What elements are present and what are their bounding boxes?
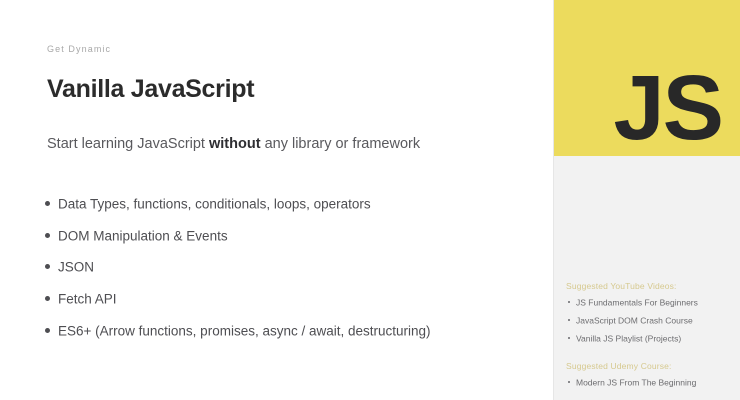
list-item: Data Types, functions, conditionals, loo… [45, 197, 431, 211]
list-item: Fetch API [45, 292, 431, 306]
bullet-dot-icon [45, 201, 50, 206]
subtitle-emphasis: without [209, 136, 261, 152]
subtitle-part-after: any library or framework [261, 136, 421, 152]
suggested-videos-heading: Suggested YouTube Videos: [566, 281, 736, 291]
eyebrow-label: Get Dynamic [47, 44, 111, 54]
suggested-videos-list: JS Fundamentals For Beginners JavaScript… [566, 298, 736, 343]
subtitle-part-before: Start learning JavaScript [47, 136, 209, 152]
js-logo-text: JS [613, 62, 722, 154]
subtitle: Start learning JavaScript without any li… [47, 136, 420, 152]
bullet-dot-icon [45, 296, 50, 301]
suggested-course-list: Modern JS From The Beginning [566, 378, 736, 387]
list-item[interactable]: JS Fundamentals For Beginners [566, 298, 736, 307]
list-item: DOM Manipulation & Events [45, 229, 431, 243]
list-item-label: JS Fundamentals For Beginners [576, 298, 698, 308]
main-content-area: Get Dynamic Vanilla JavaScript Start lea… [0, 0, 553, 400]
list-item-label: JSON [58, 260, 94, 275]
suggested-course-heading: Suggested Udemy Course: [566, 361, 736, 371]
suggested-videos-section: Suggested YouTube Videos: JS Fundamental… [566, 281, 736, 352]
bullet-square-icon [568, 337, 570, 339]
suggested-course-section: Suggested Udemy Course: Modern JS From T… [566, 361, 736, 396]
list-item: ES6+ (Arrow functions, promises, async /… [45, 324, 431, 338]
bullet-square-icon [568, 319, 570, 321]
bullet-dot-icon [45, 233, 50, 238]
topic-list: Data Types, functions, conditionals, loo… [45, 197, 431, 355]
list-item-label: ES6+ (Arrow functions, promises, async /… [58, 323, 431, 338]
js-logo-block: JS [554, 0, 740, 156]
bullet-square-icon [568, 301, 570, 303]
list-item-label: DOM Manipulation & Events [58, 228, 228, 243]
list-item-label: Data Types, functions, conditionals, loo… [58, 197, 371, 212]
list-item-label: JavaScript DOM Crash Course [576, 316, 693, 326]
list-item[interactable]: Modern JS From The Beginning [566, 378, 736, 387]
list-item[interactable]: Vanilla JS Playlist (Projects) [566, 334, 736, 343]
sidebar: JS Suggested YouTube Videos: JS Fundamen… [553, 0, 740, 400]
bullet-dot-icon [45, 264, 50, 269]
list-item-label: Vanilla JS Playlist (Projects) [576, 334, 681, 344]
list-item-label: Fetch API [58, 292, 117, 307]
page-title: Vanilla JavaScript [47, 75, 254, 104]
bullet-dot-icon [45, 328, 50, 333]
slide-canvas: Get Dynamic Vanilla JavaScript Start lea… [0, 0, 740, 400]
list-item[interactable]: JavaScript DOM Crash Course [566, 316, 736, 325]
bullet-square-icon [568, 381, 570, 383]
list-item: JSON [45, 260, 431, 274]
list-item-label: Modern JS From The Beginning [576, 378, 696, 388]
